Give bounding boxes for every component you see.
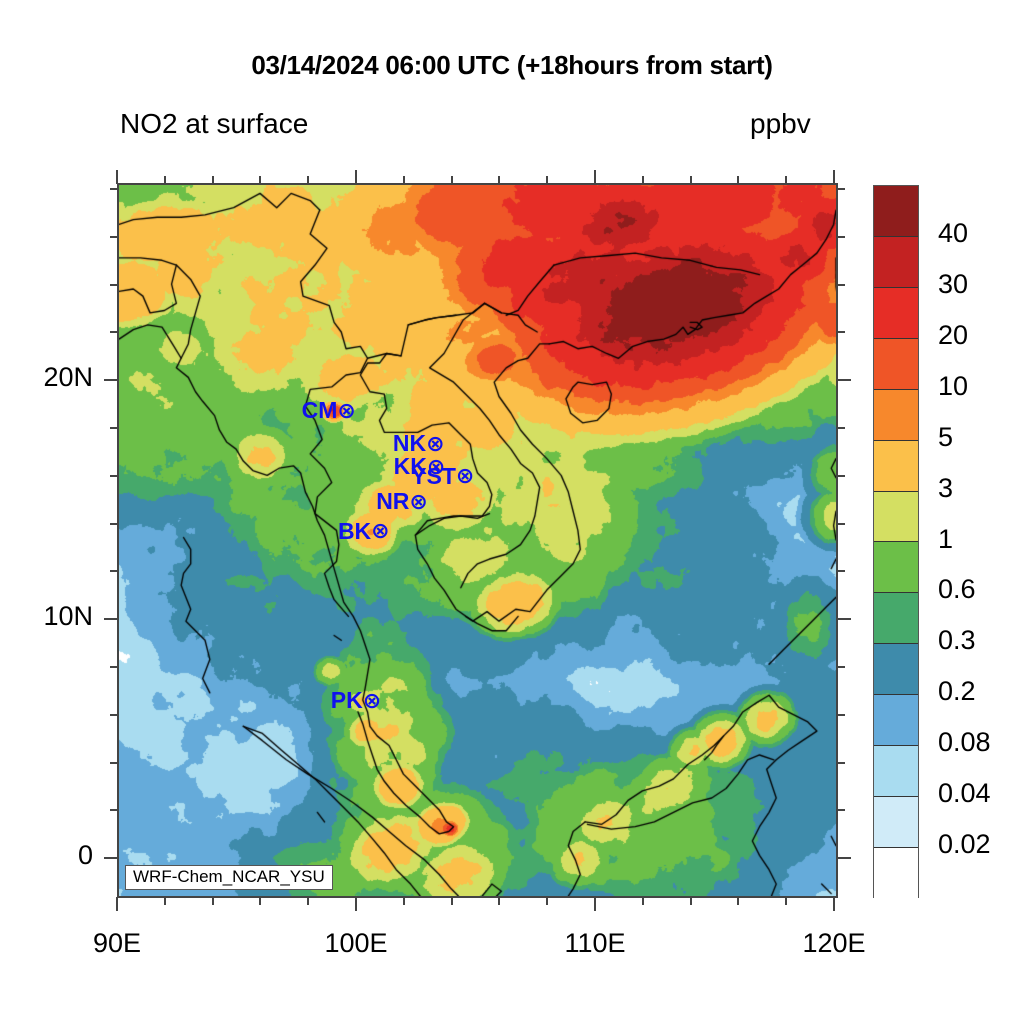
circled-x-icon: ⊗ [363,690,381,712]
city-marker-nk: NK⊗ [393,432,445,455]
y-minor-tick-right [837,570,845,572]
x-minor-tick [307,897,309,905]
city-label: NR [376,490,409,513]
colorbar-band [874,339,918,390]
y-minor-tick [110,762,118,764]
x-major-tick-top [116,170,118,184]
x-minor-tick-top [546,176,548,184]
city-label: CM [302,399,338,422]
y-minor-tick-right [837,714,845,716]
y-major-tick [104,379,118,381]
x-minor-tick [498,897,500,905]
x-minor-tick-top [690,176,692,184]
y-minor-tick [110,475,118,477]
no2-concentration-field [119,185,836,896]
y-axis-label: 0 [0,840,93,871]
circled-x-icon: ⊗ [371,520,389,542]
y-minor-tick [110,523,118,525]
colorbar-tick-label: 10 [938,371,968,402]
y-minor-tick [110,714,118,716]
model-watermark: WRF-Chem_NCAR_YSU [125,865,333,890]
circled-x-icon: ⊗ [456,465,474,487]
x-major-tick [116,897,118,911]
city-marker-yst: YST⊗ [411,465,474,488]
x-minor-tick [642,897,644,905]
y-minor-tick [110,331,118,333]
y-minor-tick [110,284,118,286]
y-minor-tick [110,666,118,668]
colorbar-band [874,441,918,492]
x-minor-tick [212,897,214,905]
y-major-tick-right [837,857,851,859]
y-minor-tick-right [837,427,845,429]
colorbar-band [874,797,918,848]
x-minor-tick-top [259,176,261,184]
x-minor-tick [164,897,166,905]
x-minor-tick [737,897,739,905]
city-label: NK [393,432,426,455]
x-minor-tick-top [212,176,214,184]
colorbar-band [874,288,918,339]
colorbar-tick-label: 0.02 [938,829,991,860]
circled-x-icon: ⊗ [409,491,427,513]
units-label: ppbv [750,108,811,140]
city-label: PK [331,689,363,712]
colorbar-tick-label: 0.04 [938,778,991,809]
colorbar-tick-label: 0.3 [938,625,976,656]
colorbar-tick-label: 40 [938,218,968,249]
y-major-tick [104,857,118,859]
x-major-tick-top [833,170,835,184]
y-minor-tick-right [837,284,845,286]
y-minor-tick-right [837,236,845,238]
y-minor-tick [110,809,118,811]
colorbar-band [874,542,918,593]
x-minor-tick-top [737,176,739,184]
map-plot-panel[interactable]: WRF-Chem_NCAR_YSU CM⊗NK⊗KK⊗YST⊗NR⊗BK⊗PK⊗ [117,183,838,898]
city-marker-bk: BK⊗ [338,520,390,543]
x-axis-label: 100E [296,928,416,959]
city-label: BK [338,520,371,543]
x-minor-tick-top [498,176,500,184]
x-minor-tick [546,897,548,905]
x-minor-tick [451,897,453,905]
colorbar-band [874,644,918,695]
circled-x-icon: ⊗ [337,400,355,422]
page-title: 03/14/2024 06:00 UTC (+18hours from star… [0,50,1024,81]
x-minor-tick [785,897,787,905]
y-minor-tick-right [837,188,845,190]
x-major-tick-top [355,170,357,184]
city-marker-cm: CM⊗ [302,399,356,422]
colorbar-tick-label: 0.6 [938,574,976,605]
x-major-tick-top [594,170,596,184]
x-minor-tick-top [403,176,405,184]
colorbar-band [874,390,918,441]
y-minor-tick [110,427,118,429]
colorbar-tick-label: 30 [938,269,968,300]
x-axis-label: 110E [535,928,655,959]
x-major-tick [594,897,596,911]
x-minor-tick-top [642,176,644,184]
y-minor-tick [110,570,118,572]
x-minor-tick [690,897,692,905]
y-major-tick-right [837,379,851,381]
circled-x-icon: ⊗ [426,433,444,455]
y-minor-tick-right [837,762,845,764]
colorbar-band [874,186,918,237]
y-minor-tick-right [837,475,845,477]
colorbar-tick-label: 0.08 [938,727,991,758]
colorbar-band [874,492,918,543]
y-minor-tick [110,188,118,190]
x-minor-tick-top [451,176,453,184]
colorbar-band [874,695,918,746]
y-minor-tick-right [837,331,845,333]
colorbar-tick-label: 20 [938,320,968,351]
x-minor-tick [403,897,405,905]
colorbar-tick-label: 0.2 [938,676,976,707]
x-minor-tick-top [164,176,166,184]
x-axis-label: 120E [774,928,894,959]
y-major-tick-right [837,618,851,620]
y-axis-label: 20N [0,362,93,393]
y-minor-tick [110,236,118,238]
variable-label: NO2 at surface [120,108,308,140]
x-major-tick [355,897,357,911]
x-minor-tick-top [307,176,309,184]
colorbar-band [874,237,918,288]
city-label: YST [411,465,456,488]
x-minor-tick-top [785,176,787,184]
colorbar-band [874,746,918,797]
y-axis-label: 10N [0,601,93,632]
x-axis-label: 90E [57,928,177,959]
y-minor-tick-right [837,666,845,668]
colorbar-tick-label: 5 [938,422,953,453]
x-major-tick [833,897,835,911]
colorbar[interactable] [873,185,919,898]
y-major-tick [104,618,118,620]
colorbar-tick-label: 3 [938,473,953,504]
colorbar-band [874,848,918,899]
y-minor-tick-right [837,523,845,525]
colorbar-tick-label: 1 [938,524,953,555]
city-marker-pk: PK⊗ [331,689,381,712]
colorbar-band [874,593,918,644]
x-minor-tick [259,897,261,905]
city-marker-nr: NR⊗ [376,490,428,513]
y-minor-tick-right [837,809,845,811]
